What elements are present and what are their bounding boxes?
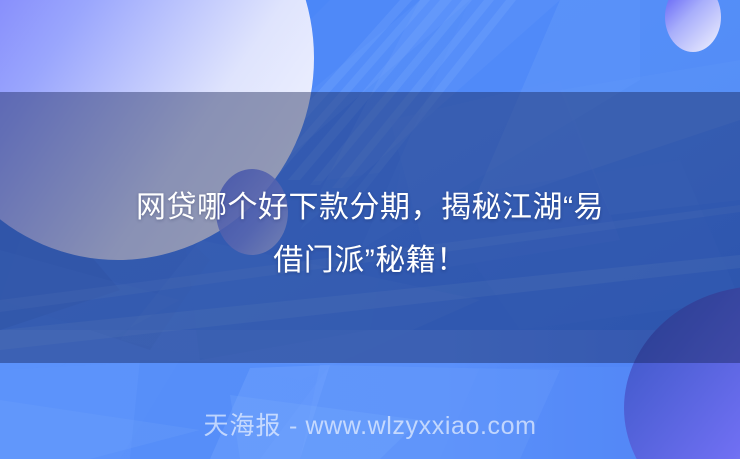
title-line-1: 网贷哪个好下款分期，揭秘江湖“易 [38, 181, 702, 234]
watermark-site-name: 天海报 [203, 412, 281, 440]
watermark-separator: - [281, 412, 305, 440]
watermark-url: www.wlzyxxiao.com [305, 412, 536, 440]
title-line-2: 借门派”秘籍！ [38, 234, 702, 287]
poster-title: 网贷哪个好下款分期，揭秘江湖“易 借门派”秘籍！ [0, 181, 740, 287]
poster-canvas: 网贷哪个好下款分期，揭秘江湖“易 借门派”秘籍！ 天海报 - www.wlzyx… [0, 0, 740, 459]
watermark: 天海报 - www.wlzyxxiao.com [0, 409, 740, 443]
